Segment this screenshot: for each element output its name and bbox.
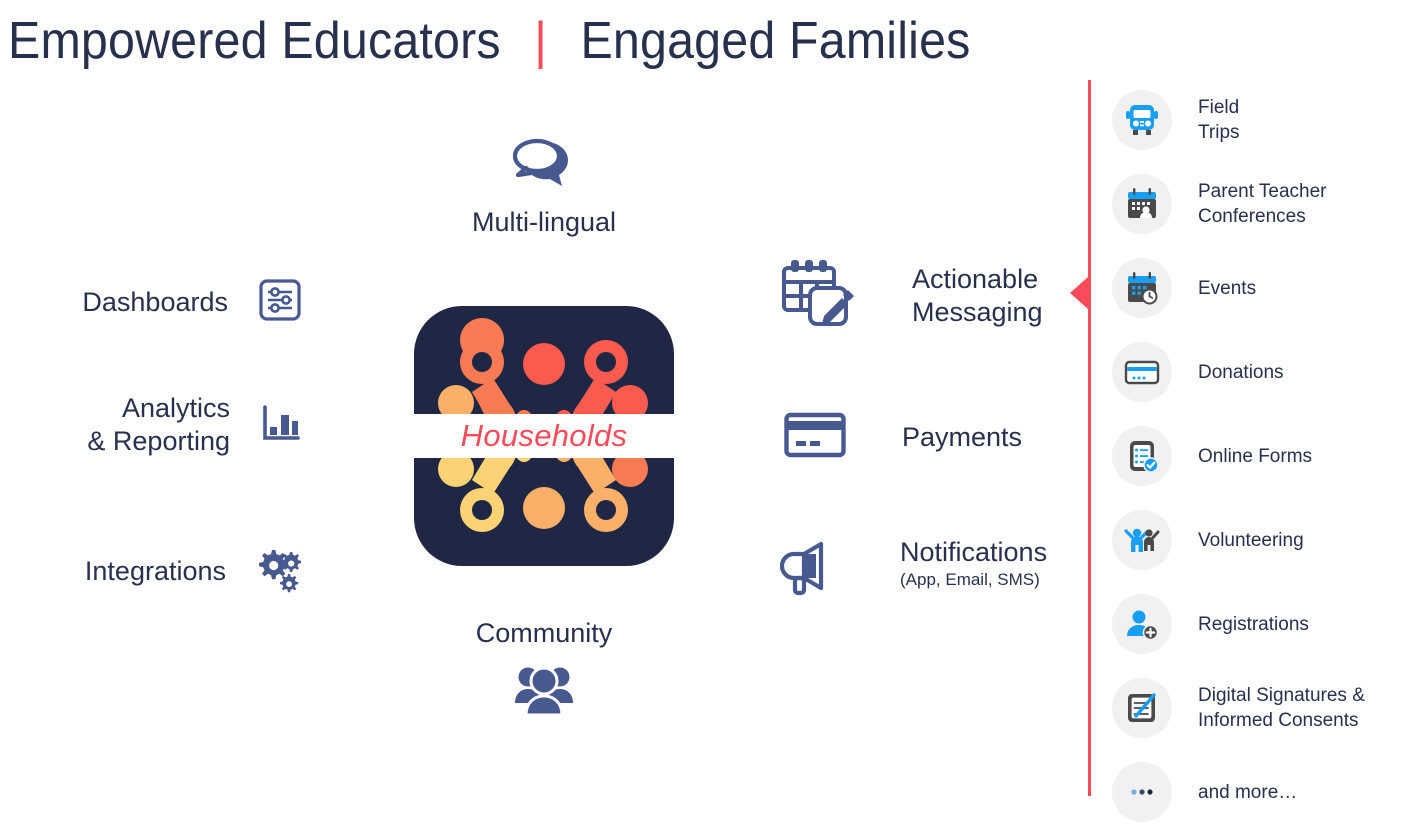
feature-payments[interactable]: Payments: [784, 412, 1022, 463]
list-item-label: Registrations: [1198, 612, 1309, 637]
feature-integrations[interactable]: Integrations: [24, 544, 304, 599]
list-item-label: Donations: [1198, 360, 1284, 385]
feature-messaging-line1: Actionable: [912, 264, 1038, 294]
timeline-rail: [1088, 80, 1091, 796]
feature-notifications-line1: Notifications: [900, 537, 1047, 567]
capabilities-list: Field Trips Parent Teach: [1112, 78, 1412, 834]
list-item[interactable]: Field Trips: [1112, 78, 1412, 162]
list-item-line1: Parent Teacher: [1198, 181, 1327, 202]
list-item-line2: Conferences: [1198, 206, 1306, 227]
volunteers-icon: [1112, 510, 1172, 570]
school-bus-icon: [1112, 90, 1172, 150]
feature-notifications-label: Notifications (App, Email, SMS): [900, 536, 1047, 590]
title-left: Empowered Educators: [8, 11, 501, 71]
calendar-pencil-icon: [780, 258, 856, 333]
sliders-panel-icon: [256, 276, 304, 329]
feature-notifications-sub: (App, Email, SMS): [900, 569, 1047, 590]
feature-analytics-reporting-label: Analytics & Reporting: [87, 392, 230, 458]
center-bottom-label: Community: [400, 618, 688, 649]
center-bottom-block: Community: [400, 618, 688, 722]
households-band: Households: [414, 414, 674, 458]
calendar-people-icon: [1112, 174, 1172, 234]
chat-bubbles-icon: [506, 132, 582, 195]
list-item[interactable]: and more…: [1112, 750, 1412, 834]
households-label: Households: [461, 418, 628, 454]
credit-card-icon: [1112, 342, 1172, 402]
list-item-line2: Trips: [1198, 122, 1240, 143]
credit-card-icon: [784, 412, 846, 463]
calendar-clock-icon: [1112, 258, 1172, 318]
list-item[interactable]: Events: [1112, 246, 1412, 330]
feature-dashboards-label: Dashboards: [82, 286, 228, 319]
list-item[interactable]: Donations: [1112, 330, 1412, 414]
title-right: Engaged Families: [580, 11, 970, 71]
infographic-canvas: Empowered Educators | Engaged Families D…: [0, 0, 1416, 821]
feature-messaging-line2: Messaging: [912, 297, 1043, 327]
feature-analytics-line1: Analytics: [122, 393, 230, 423]
bar-chart-icon: [258, 400, 304, 451]
list-item-label: Field Trips: [1198, 95, 1240, 145]
households-card: Households: [414, 306, 674, 566]
page-title: Empowered Educators | Engaged Families: [8, 8, 994, 74]
list-item-label: Parent Teacher Conferences: [1198, 179, 1327, 229]
list-item-label: Volunteering: [1198, 528, 1304, 553]
list-item[interactable]: Parent Teacher Conferences: [1112, 162, 1412, 246]
signature-pad-icon: [1112, 678, 1172, 738]
list-item[interactable]: Registrations: [1112, 582, 1412, 666]
list-item[interactable]: Online Forms: [1112, 414, 1412, 498]
rail-pointer-arrow: [1070, 277, 1088, 309]
list-item-label: Events: [1198, 276, 1256, 301]
feature-actionable-messaging[interactable]: Actionable Messaging: [780, 258, 1043, 333]
title-separator: |: [534, 11, 547, 71]
list-item[interactable]: Digital Signatures & Informed Consents: [1112, 666, 1412, 750]
feature-analytics-line2: & Reporting: [87, 426, 230, 456]
people-group-icon: [513, 661, 575, 722]
list-item-line1: Field: [1198, 97, 1239, 118]
list-item[interactable]: Volunteering: [1112, 498, 1412, 582]
center-top-block: Multi-lingual: [400, 132, 688, 238]
feature-analytics-reporting[interactable]: Analytics & Reporting: [24, 392, 304, 458]
feature-payments-label: Payments: [902, 421, 1022, 454]
form-check-icon: [1112, 426, 1172, 486]
list-item-label: Online Forms: [1198, 444, 1312, 469]
megaphone-icon: [780, 540, 848, 601]
center-top-label: Multi-lingual: [400, 207, 688, 238]
feature-dashboards[interactable]: Dashboards: [24, 276, 304, 329]
feature-notifications[interactable]: Notifications (App, Email, SMS): [780, 536, 1047, 601]
list-item-line2: Informed Consents: [1198, 710, 1359, 731]
feature-actionable-messaging-label: Actionable Messaging: [912, 263, 1043, 329]
list-item-label: and more…: [1198, 780, 1297, 805]
gears-icon: [254, 544, 304, 599]
list-item-line1: Digital Signatures &: [1198, 685, 1365, 706]
ellipsis-icon: [1112, 762, 1172, 822]
feature-integrations-label: Integrations: [85, 555, 226, 588]
user-plus-icon: [1112, 594, 1172, 654]
list-item-label: Digital Signatures & Informed Consents: [1198, 683, 1365, 733]
